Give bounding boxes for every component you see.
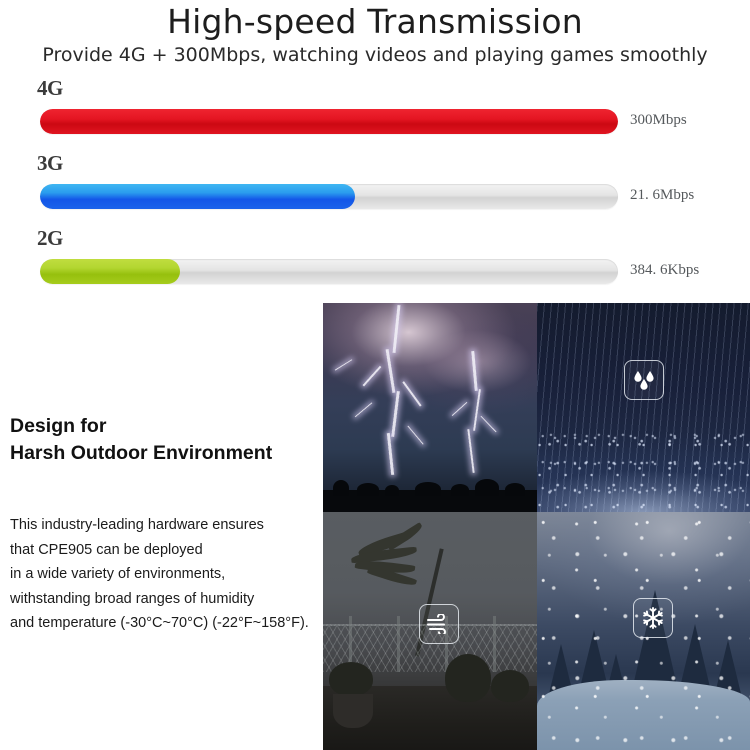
bar-track-3g bbox=[40, 184, 618, 209]
photo-lightning-storm bbox=[323, 303, 537, 512]
section-heading: Design for Harsh Outdoor Environment bbox=[10, 413, 320, 467]
section-heading-line-2: Harsh Outdoor Environment bbox=[10, 440, 320, 467]
page-title: High-speed Transmission bbox=[0, 2, 750, 41]
section-body-line-1: This industry-leading hardware ensures bbox=[10, 513, 320, 538]
bar-value-2g: 384. 6Kbps bbox=[630, 262, 699, 279]
rain-splash-droplets bbox=[537, 427, 750, 512]
photo-snowfall bbox=[537, 512, 750, 750]
section-body-line-4: withstanding broad ranges of humidity bbox=[10, 587, 320, 612]
bar-value-3g: 21. 6Mbps bbox=[630, 187, 694, 204]
raindrops-icon bbox=[631, 369, 657, 391]
section-body-line-2: that CPE905 can be deployed bbox=[10, 538, 320, 563]
page-subtitle: Provide 4G + 300Mbps, watching videos an… bbox=[0, 44, 750, 66]
speed-row-4g: 4G 300Mbps bbox=[0, 76, 750, 151]
weather-photo-grid bbox=[323, 303, 750, 750]
bar-fill-2g bbox=[40, 259, 180, 284]
section-body: This industry-leading hardware ensures t… bbox=[10, 513, 320, 636]
speed-label-3g: 3G bbox=[37, 151, 63, 176]
speed-row-3g: 3G 21. 6Mbps bbox=[0, 151, 750, 226]
copy-block: Design for Harsh Outdoor Environment Thi… bbox=[10, 413, 320, 636]
photo-heavy-rain bbox=[537, 303, 750, 512]
speed-label-2g: 2G bbox=[37, 226, 63, 251]
photo-strong-wind bbox=[323, 512, 537, 750]
section-body-line-5: and temperature (-30°C~70°C) (-22°F~158°… bbox=[10, 611, 320, 636]
wind-icon bbox=[426, 614, 452, 634]
speed-row-2g: 2G 384. 6Kbps bbox=[0, 226, 750, 301]
wind-badge bbox=[419, 604, 459, 644]
bar-track-4g bbox=[40, 109, 618, 134]
raindrops-badge bbox=[624, 360, 664, 400]
speed-comparison-chart: 4G 300Mbps 3G 21. 6Mbps 2G 384. 6Kbps bbox=[0, 76, 750, 301]
bar-value-4g: 300Mbps bbox=[630, 112, 687, 129]
harsh-environment-section: Design for Harsh Outdoor Environment Thi… bbox=[0, 303, 750, 750]
section-heading-line-1: Design for bbox=[10, 413, 320, 440]
bar-track-2g bbox=[40, 259, 618, 284]
bar-fill-4g bbox=[40, 109, 618, 134]
snowflake-icon bbox=[641, 606, 665, 630]
speed-label-4g: 4G bbox=[37, 76, 63, 101]
bar-fill-3g bbox=[40, 184, 355, 209]
section-body-line-3: in a wide variety of environments, bbox=[10, 562, 320, 587]
snowflake-badge bbox=[633, 598, 673, 638]
